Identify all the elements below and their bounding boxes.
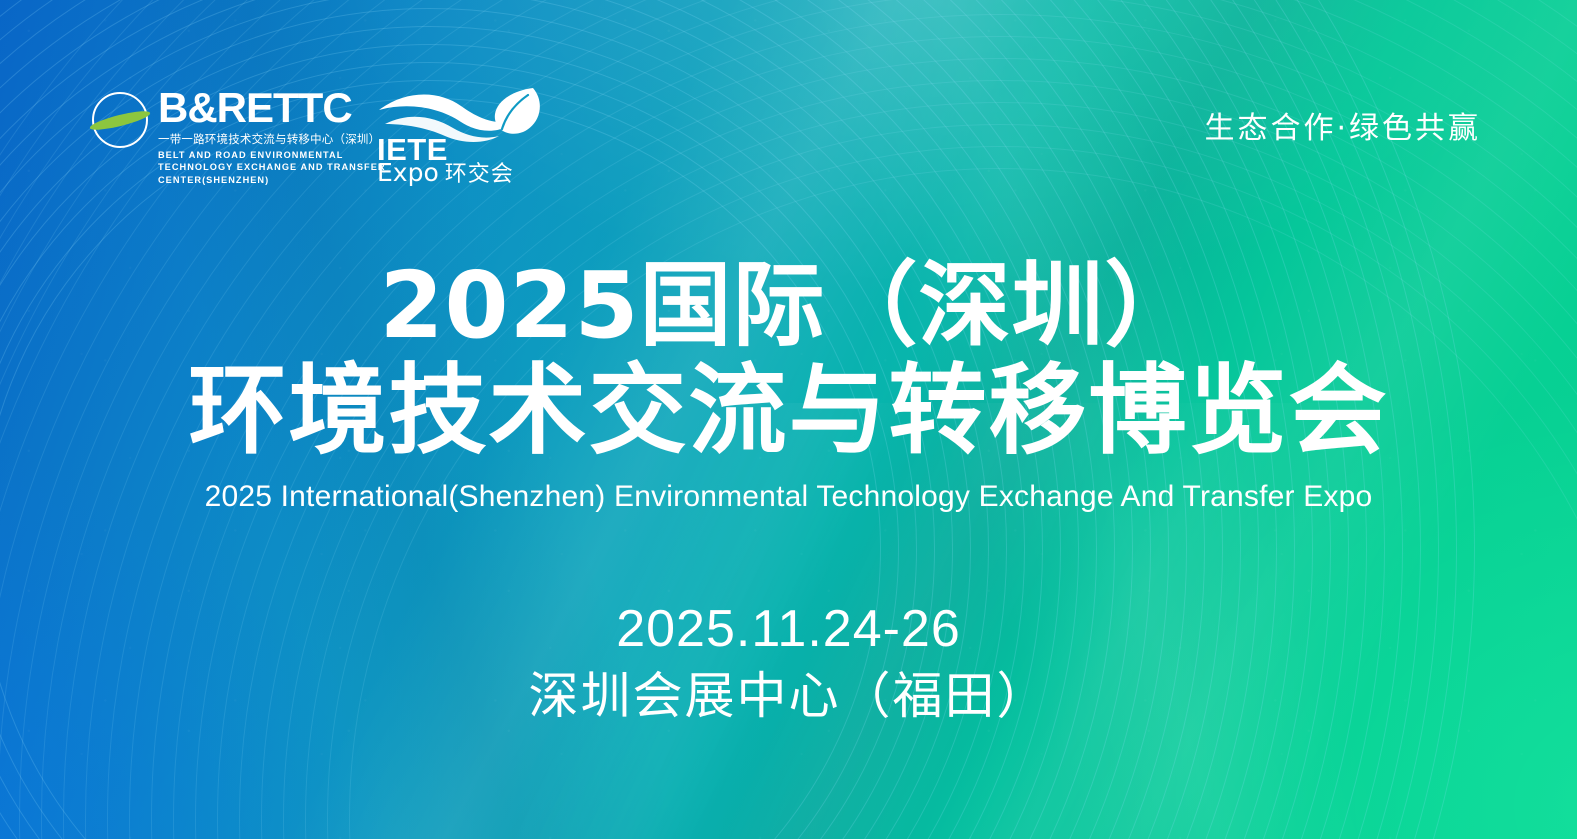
brettc-chinese-name: 一带一路环境技术交流与转移中心（深圳） xyxy=(158,131,386,147)
main-title-block: 2025国际（深圳） 环境技术交流与转移博览会 2025 Internation… xyxy=(0,258,1577,514)
iete-sub-cn: 环交会 xyxy=(445,162,514,187)
title-line-2: 环境技术交流与转移博览会 xyxy=(0,359,1577,465)
iete-sub-en: Expo xyxy=(377,158,439,187)
event-banner: B&RETTC 一带一路环境技术交流与转移中心（深圳） BELT AND ROA… xyxy=(0,0,1577,839)
event-meta-block: 2025.11.24-26 深圳会展中心（福田） xyxy=(0,600,1577,726)
brettc-english-line-1: BELT AND ROAD ENVIRONMENTAL xyxy=(158,149,386,161)
brettc-english-line-2: TECHNOLOGY EXCHANGE AND TRANSFER xyxy=(158,161,386,173)
title-line-1: 2025国际（深圳） xyxy=(0,258,1577,355)
event-date: 2025.11.24-26 xyxy=(0,600,1577,660)
brettc-english-line-3: CENTER(SHENZHEN) xyxy=(158,174,386,186)
header-slogan: 生态合作·绿色共赢 xyxy=(1204,103,1481,147)
logo-iete-expo[interactable]: IETE Expo环交会 xyxy=(375,84,545,192)
title-english: 2025 International(Shenzhen) Environment… xyxy=(0,480,1577,514)
banner-header: B&RETTC 一带一路环境技术交流与转移中心（深圳） BELT AND ROA… xyxy=(0,0,1577,210)
event-venue: 深圳会展中心（福田） xyxy=(0,666,1577,726)
logo-brettc[interactable]: B&RETTC 一带一路环境技术交流与转移中心（深圳） BELT AND ROA… xyxy=(92,88,386,186)
brettc-wordmark: B&RETTC xyxy=(158,88,386,128)
globe-icon xyxy=(92,92,148,148)
